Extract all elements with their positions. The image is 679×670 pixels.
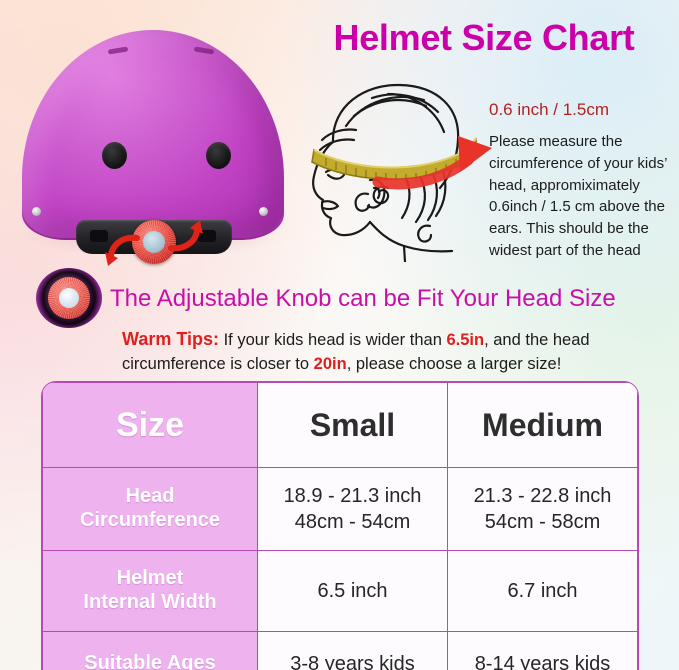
helmet-rivet-icon <box>259 207 268 216</box>
row-label-line1: Head <box>49 485 251 509</box>
row-label-line2: Internal Width <box>49 591 251 615</box>
adjustable-knob-caption: The Adjustable Knob can be Fit Your Head… <box>110 285 670 314</box>
knob-center <box>59 288 79 308</box>
cell-line1: 18.9 - 21.3 inch <box>264 483 441 509</box>
measure-offset-label: 0.6 inch / 1.5cm <box>489 100 675 120</box>
cell-medium-suitable-ages: 8-14 years kids <box>448 632 638 670</box>
helmet-air-hole-icon <box>102 142 127 169</box>
row-label-suitable-ages: Suitable Ages <box>43 632 258 670</box>
table-header-medium: Medium <box>448 383 638 468</box>
cell-line2: 54cm - 58cm <box>454 509 631 535</box>
row-label-helmet-internal-width: Helmet Internal Width <box>43 551 258 632</box>
row-label-line1: Helmet <box>49 567 251 591</box>
helmet-air-hole-icon <box>206 142 231 169</box>
adjustable-knob-icon <box>36 268 102 328</box>
head-profile-icon <box>292 76 504 262</box>
table-row: Helmet Internal Width 6.5 inch 6.7 inch <box>43 551 638 632</box>
table-header-size: Size <box>43 383 258 468</box>
cell-small-internal-width: 6.5 inch <box>258 551 448 632</box>
helmet-vent-icon <box>108 46 129 54</box>
rotation-arrow-icon <box>104 230 144 270</box>
table-row: Suitable Ages 3-8 years kids 8-14 years … <box>43 632 638 670</box>
knob-dial <box>48 277 90 319</box>
helmet-icon <box>14 14 294 266</box>
cell-medium-head-circumference: 21.3 - 22.8 inch 54cm - 58cm <box>448 468 638 551</box>
size-chart-table: Size Small Medium Head Circumference 18.… <box>42 382 638 670</box>
cell-line1: 21.3 - 22.8 inch <box>454 483 631 509</box>
measure-instructions: Please measure the circumference of your… <box>489 131 679 262</box>
helmet-vent-icon <box>194 46 215 54</box>
warm-tips-part3: , please choose a larger size! <box>347 355 562 373</box>
row-label-line2: Circumference <box>49 509 251 533</box>
row-label-head-circumference: Head Circumference <box>43 468 258 551</box>
page-title: Helmet Size Chart <box>298 18 670 58</box>
cell-medium-internal-width: 6.7 inch <box>448 551 638 632</box>
knob-center <box>143 231 165 253</box>
cell-small-suitable-ages: 3-8 years kids <box>258 632 448 670</box>
warm-tips-part1: If your kids head is wider than <box>219 331 446 349</box>
cell-small-head-circumference: 18.9 - 21.3 inch 48cm - 54cm <box>258 468 448 551</box>
warm-tips-width-value: 6.5in <box>446 331 484 349</box>
table-header-row: Size Small Medium <box>43 383 638 468</box>
cell-line2: 48cm - 54cm <box>264 509 441 535</box>
warm-tips-label: Warm Tips: <box>122 329 219 349</box>
rotation-arrow-icon <box>164 214 204 254</box>
helmet-rivet-icon <box>32 207 41 216</box>
helmet-shell <box>22 30 284 238</box>
helmet-size-chart-infographic: Helmet Size Chart <box>0 0 679 670</box>
table-row: Head Circumference 18.9 - 21.3 inch 48cm… <box>43 468 638 551</box>
warm-tips-circumference-value: 20in <box>314 355 347 373</box>
warm-tips-note: Warm Tips: If your kids head is wider th… <box>122 327 674 376</box>
table-header-small: Small <box>258 383 448 468</box>
